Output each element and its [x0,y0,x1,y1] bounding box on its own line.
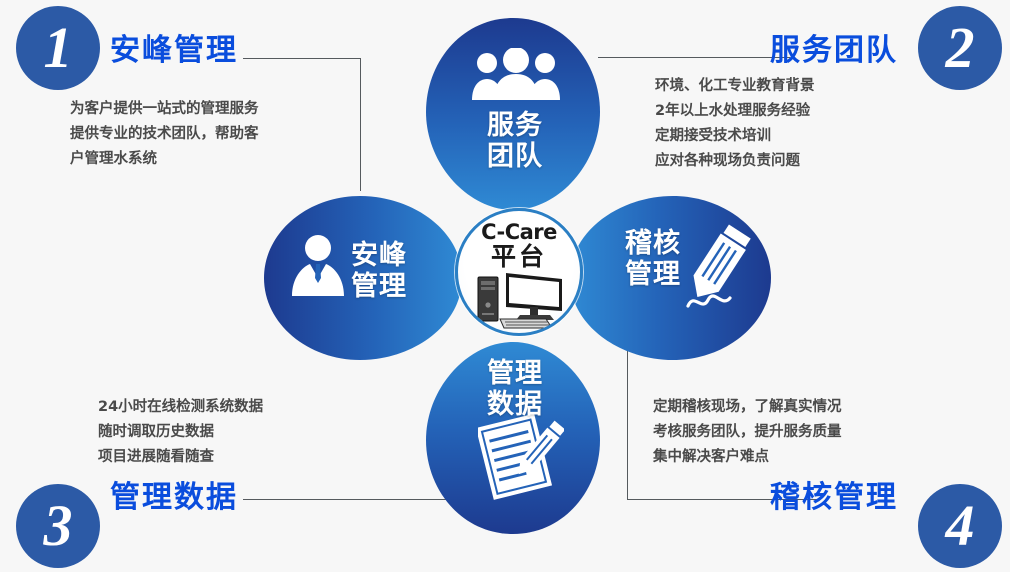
pencil-icon [682,222,758,320]
badge-number-3: 3 [16,484,100,568]
hub-title: C-Care [458,221,580,244]
section-1-line: 户管理水系统 [70,147,259,172]
people-group-icon [470,48,562,100]
badge-number-1: 1 [16,6,100,90]
petal-label-management-data: 管理 数据 [478,358,552,420]
petal-label-audit-management: 稽核 管理 [616,228,690,290]
hub-subtitle: 平台 [458,243,580,270]
center-platform-hub[interactable]: C-Care 平台 [455,208,583,336]
section-4-line: 定期稽核现场，了解真实情况 [653,395,842,420]
badge-number-2: 2 [918,6,1002,90]
section-title-3: 管理数据 [110,472,238,516]
petal-label-service-team: 服务 团队 [478,110,552,172]
connector-line-1-vertical [360,58,361,191]
section-2-line: 应对各种现场负责问题 [655,149,815,174]
infographic-canvas: 服务 团队 安峰 管理 稽核 管理 管理 数据 C-Care 平台 1 2 [0,0,1010,572]
section-title-2: 服务团队 [770,25,898,69]
section-3-line: 随时调取历史数据 [98,420,263,445]
connector-line-1-horizontal [243,58,361,59]
section-3-line: 项目进展随看随查 [98,445,263,470]
section-body-4: 定期稽核现场，了解真实情况考核服务团队，提升服务质量集中解决客户难点 [653,395,842,470]
section-3-line: 24小时在线检测系统数据 [98,395,263,420]
section-body-1: 为客户提供一站式的管理服务提供专业的技术团队，帮助客户管理水系统 [70,97,259,172]
connector-line-2-horizontal [598,57,790,58]
section-2-line: 定期接受技术培训 [655,124,815,149]
section-title-1: 安峰管理 [110,25,238,69]
petal-label-anfeng-management: 安峰 管理 [342,240,416,302]
section-body-2: 环境、化工专业教育背景2年以上水处理服务经验定期接受技术培训应对各种现场负责问题 [655,74,815,174]
clipboard-pencil-icon [478,412,564,500]
desktop-computer-icon [476,271,564,329]
section-1-line: 为客户提供一站式的管理服务 [70,97,259,122]
section-body-3: 24小时在线检测系统数据随时调取历史数据项目进展随看随查 [98,395,263,470]
section-2-line: 2年以上水处理服务经验 [655,99,815,124]
businessman-icon [290,234,346,296]
badge-number-4: 4 [918,484,1002,568]
section-2-line: 环境、化工专业教育背景 [655,74,815,99]
section-1-line: 提供专业的技术团队，帮助客 [70,122,259,147]
section-title-4: 稽核管理 [770,472,898,516]
section-4-line: 考核服务团队，提升服务质量 [653,420,842,445]
section-4-line: 集中解决客户难点 [653,445,842,470]
